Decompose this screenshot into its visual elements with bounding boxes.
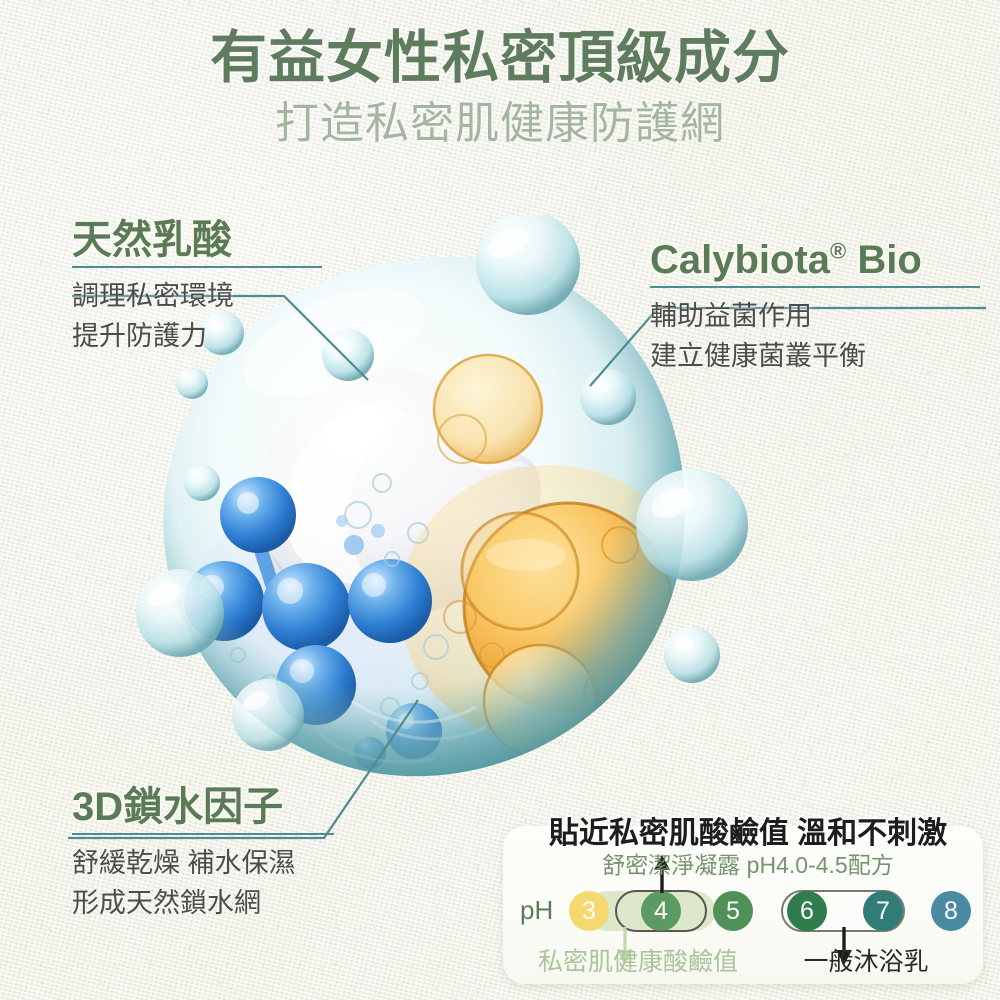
brand-name-tail: Bio	[846, 238, 922, 282]
callout-rule-3d	[72, 833, 334, 835]
ph-dot-8[interactable]: 8	[931, 891, 971, 931]
ph-dot-7[interactable]: 7	[863, 891, 903, 931]
callout-rule-lactic	[72, 266, 322, 268]
callout-line-lactic-1: 調理私密環境	[72, 277, 322, 315]
callout-line-lactic-2: 提升防護力	[72, 317, 322, 355]
registered-trademark-mark: ®	[830, 239, 846, 264]
infographic-canvas: 有益女性私密頂級成分 打造私密肌健康防護網 天然乳酸 調理私密環境 提升防護力 …	[0, 0, 1000, 1000]
callout-title-calybiota: Calybiota® Bio	[650, 238, 980, 282]
ph-card-subtitle: 舒密潔淨凝露 pH4.0-4.5配方	[503, 846, 993, 880]
callout-title-lactic: 天然乳酸	[72, 218, 322, 262]
ph-footnote-generic-wash: 一般沐浴乳	[771, 942, 961, 978]
page-subtitle: 打造私密肌健康防護網	[0, 100, 1000, 148]
callout-3d-water-lock: 3D鎖水因子 舒緩乾燥 補水保濕 形成天然鎖水網	[72, 785, 334, 923]
ph-dot-3[interactable]: 3	[569, 891, 609, 931]
ph-dot-6[interactable]: 6	[787, 891, 827, 931]
ph-dot-5[interactable]: 5	[713, 891, 753, 931]
callout-rule-calybiota	[650, 286, 980, 288]
callout-calybiota-bio: Calybiota® Bio 輔助益菌作用 建立健康菌叢平衡	[650, 238, 980, 376]
callout-natural-lactic-acid: 天然乳酸 調理私密環境 提升防護力	[72, 218, 322, 356]
callout-line-calybiota-1: 輔助益菌作用	[650, 297, 980, 335]
ph-footnote-healthy-range: 私密肌健康酸鹼值	[523, 942, 753, 978]
callout-line-3d-1: 舒緩乾燥 補水保濕	[72, 844, 334, 882]
callout-title-3d: 3D鎖水因子	[72, 785, 334, 829]
header-block: 有益女性私密頂級成分 打造私密肌健康防護網	[0, 28, 1000, 148]
ph-dot-4[interactable]: 4	[641, 891, 681, 931]
callout-line-calybiota-2: 建立健康菌叢平衡	[650, 337, 980, 375]
ph-axis-label: pH	[520, 895, 553, 926]
brand-name-text: Calybiota	[650, 238, 830, 282]
callout-line-3d-2: 形成天然鎖水網	[72, 884, 334, 922]
ph-scale-row: pH 3 4 5 6 7 8	[503, 885, 983, 937]
page-title: 有益女性私密頂級成分	[0, 28, 1000, 90]
